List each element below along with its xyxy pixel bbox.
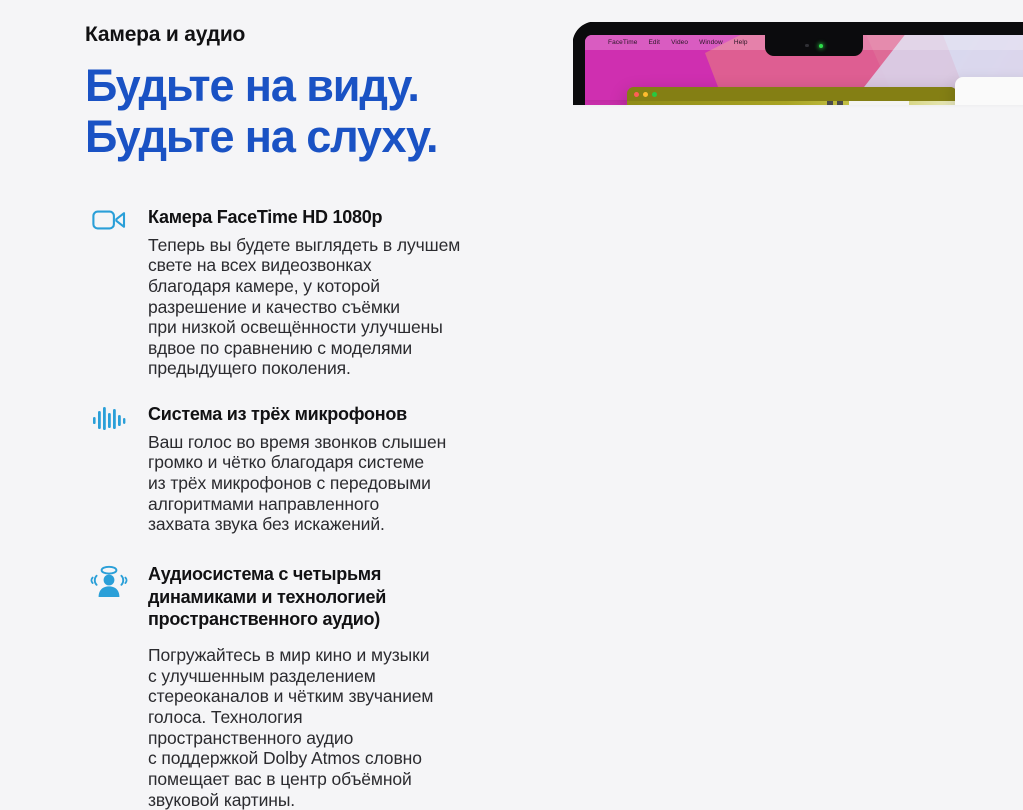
minimize-button[interactable] [643, 92, 648, 97]
video-camera-icon [85, 208, 133, 248]
webcam-lens-icon [805, 44, 809, 48]
feature-item-microphones: Система из трёх микрофонов Ваш голос во … [85, 403, 555, 535]
page-title: Будьте на виду. Будьте на слуху. [85, 61, 555, 162]
desktop-side-window [955, 77, 1023, 105]
background-object [827, 101, 833, 105]
menu-item-window[interactable]: Window [699, 39, 723, 46]
body-line: захвата звука без искажений. [148, 514, 555, 535]
title-line: динамиками и технологией [148, 586, 555, 609]
screen-notch [765, 35, 863, 56]
laptop-product-image: FaceTime Edit Video Window Help [573, 22, 1023, 105]
feature-body-camera: Теперь вы будете выглядеть в лучшем свет… [148, 235, 555, 379]
facetime-window-titlebar [627, 87, 957, 101]
feature-item-speakers: Аудиосистема с четырьмя динамиками и тех… [85, 563, 555, 810]
body-line: пространственного аудио [148, 728, 555, 749]
facetime-window [627, 87, 957, 105]
body-line: звуковой картины. [148, 790, 555, 810]
feature-body-microphones: Ваш голос во время звонков слышен громко… [148, 432, 555, 535]
eyebrow-label: Камера и аудио [85, 22, 555, 47]
feature-list: Камера FaceTime HD 1080p Теперь вы будет… [85, 206, 555, 810]
body-line: благодаря камере, у которой [148, 276, 555, 297]
close-button[interactable] [634, 92, 639, 97]
feature-content-column: Камера и аудио Будьте на виду. Будьте на… [85, 22, 555, 810]
title-line: пространственного аудио) [148, 608, 555, 631]
camera-active-indicator-icon [819, 44, 823, 48]
body-line: стереоканалов и чётким звучанием [148, 686, 555, 707]
body-line: громко и чётко благодаря системе [148, 452, 555, 473]
body-line: свете на всех видеозвонках [148, 255, 555, 276]
feature-title-speakers: Аудиосистема с четырьмя динамиками и тех… [148, 563, 555, 631]
headline-line-1: Будьте на виду. [85, 61, 555, 111]
body-line: Погружайтесь в мир кино и музыки [148, 645, 555, 666]
body-line: с поддержкой Dolby Atmos словно [148, 748, 555, 769]
laptop-bezel: FaceTime Edit Video Window Help [573, 22, 1023, 105]
feature-body-speakers: Погружайтесь в мир кино и музыки с улучш… [148, 645, 555, 810]
body-line: голоса. Технология [148, 707, 555, 728]
zoom-button[interactable] [652, 92, 657, 97]
body-line: Ваш голос во время звонков слышен [148, 432, 555, 453]
body-line: помещает вас в центр объёмной [148, 769, 555, 790]
menu-item-edit[interactable]: Edit [648, 39, 660, 46]
body-line: разрешение и качество съёмки [148, 297, 555, 318]
feature-title-microphones: Система из трёх микрофонов [148, 403, 555, 426]
laptop-screen: FaceTime Edit Video Window Help [585, 35, 1023, 105]
background-panel [849, 101, 909, 105]
body-line: Теперь вы будете выглядеть в лучшем [148, 235, 555, 256]
menu-item-video[interactable]: Video [671, 39, 688, 46]
spatial-audio-icon [85, 565, 133, 605]
headline-line-2: Будьте на слуху. [85, 112, 555, 162]
audio-waveform-icon [85, 405, 133, 445]
body-line: из трёх микрофонов с передовыми [148, 473, 555, 494]
body-line: вдвое по сравнению с моделями [148, 338, 555, 359]
body-line: предыдущего поколения. [148, 358, 555, 379]
background-object [837, 101, 843, 105]
menu-item-help[interactable]: Help [734, 39, 748, 46]
facetime-video-feed [627, 101, 957, 105]
feature-item-camera: Камера FaceTime HD 1080p Теперь вы будет… [85, 206, 555, 379]
body-line: алгоритмами направленного [148, 494, 555, 515]
feature-title-camera: Камера FaceTime HD 1080p [148, 206, 555, 229]
title-line: Аудиосистема с четырьмя [148, 563, 555, 586]
body-line: с улучшенным разделением [148, 666, 555, 687]
body-line: при низкой освещённости улучшены [148, 317, 555, 338]
menu-item-facetime[interactable]: FaceTime [608, 39, 637, 46]
